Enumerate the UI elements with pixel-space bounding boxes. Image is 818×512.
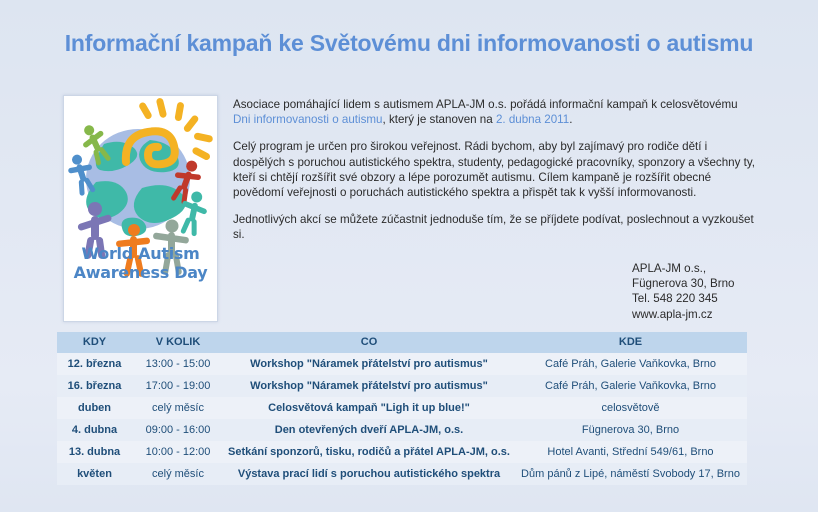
- table-row: dubencelý měsícCelosvětová kampaň "Ligh …: [57, 397, 747, 419]
- contact-phone: Tel. 548 220 345: [632, 291, 734, 306]
- logo-caption: World Autism Awareness Day: [64, 244, 217, 282]
- cell-kdy: 13. dubna: [57, 441, 132, 463]
- logo-artwork: [64, 96, 217, 321]
- page-title: Informační kampaň ke Světovému dni infor…: [0, 30, 818, 57]
- cell-co: Den otevřených dveří APLA-JM, o.s.: [224, 419, 514, 441]
- column-header-kde: KDE: [514, 332, 747, 353]
- schedule-table-body: 12. března13:00 - 15:00Workshop "Náramek…: [57, 353, 747, 485]
- table-header-row: KDY V KOLIK CO KDE: [57, 332, 747, 353]
- cell-co: Výstava prací lidí s poruchou autistické…: [224, 463, 514, 485]
- cell-kde: Fügnerova 30, Brno: [514, 419, 747, 441]
- cell-co: Workshop "Náramek přátelství pro autismu…: [224, 375, 514, 397]
- column-header-kdy: KDY: [57, 332, 132, 353]
- cell-kolik: 09:00 - 16:00: [132, 419, 224, 441]
- contact-org: APLA-JM o.s.,: [632, 261, 734, 276]
- intro-text: Asociace pomáhající lidem s autismem APL…: [233, 97, 758, 255]
- table-row: 12. března13:00 - 15:00Workshop "Náramek…: [57, 353, 747, 375]
- cell-kolik: celý měsíc: [132, 463, 224, 485]
- column-header-kolik: V KOLIK: [132, 332, 224, 353]
- cell-kdy: 4. dubna: [57, 419, 132, 441]
- column-header-co: CO: [224, 332, 514, 353]
- cell-kdy: 16. března: [57, 375, 132, 397]
- cell-kolik: celý měsíc: [132, 397, 224, 419]
- p1-highlight-date: 2. dubna 2011: [496, 113, 569, 126]
- cell-kdy: duben: [57, 397, 132, 419]
- table-row: 4. dubna09:00 - 16:00Den otevřených dveř…: [57, 419, 747, 441]
- logo-caption-line2: Awareness Day: [64, 263, 217, 282]
- cell-kde: Dům pánů z Lipé, náměstí Svobody 17, Brn…: [514, 463, 747, 485]
- table-row: 13. dubna10:00 - 12:00Setkání sponzorů, …: [57, 441, 747, 463]
- schedule-table: KDY V KOLIK CO KDE 12. března13:00 - 15:…: [57, 332, 747, 485]
- paragraph-3: Jednotlivých akcí se můžete zúčastnit je…: [233, 212, 758, 242]
- table-row: květencelý měsícVýstava prací lidí s por…: [57, 463, 747, 485]
- schedule-table-head: KDY V KOLIK CO KDE: [57, 332, 747, 353]
- p1-highlight-day: Dni informovanosti o autismu: [233, 113, 383, 126]
- p1-part-a: Asociace pomáhající lidem s autismem APL…: [233, 98, 738, 111]
- cell-kde: celosvětově: [514, 397, 747, 419]
- contact-web[interactable]: www.apla-jm.cz: [632, 307, 734, 322]
- cell-kolik: 10:00 - 12:00: [132, 441, 224, 463]
- cell-kolik: 17:00 - 19:00: [132, 375, 224, 397]
- poster-page: Informační kampaň ke Světovému dni infor…: [0, 0, 818, 512]
- cell-co: Setkání sponzorů, tisku, rodičů a přátel…: [224, 441, 514, 463]
- contact-block: APLA-JM o.s., Fügnerova 30, Brno Tel. 54…: [632, 261, 734, 322]
- paragraph-1: Asociace pomáhající lidem s autismem APL…: [233, 97, 758, 127]
- world-autism-awareness-day-logo: World Autism Awareness Day: [63, 95, 218, 322]
- table-row: 16. března17:00 - 19:00Workshop "Náramek…: [57, 375, 747, 397]
- cell-co: Celosvětová kampaň "Ligh it up blue!": [224, 397, 514, 419]
- cell-kdy: 12. března: [57, 353, 132, 375]
- p1-part-b: , který je stanoven na: [383, 113, 496, 126]
- logo-caption-line1: World Autism: [64, 244, 217, 263]
- cell-kde: Café Práh, Galerie Vaňkovka, Brno: [514, 353, 747, 375]
- p1-part-c: .: [569, 113, 572, 126]
- cell-kolik: 13:00 - 15:00: [132, 353, 224, 375]
- cell-kde: Café Práh, Galerie Vaňkovka, Brno: [514, 375, 747, 397]
- cell-kdy: květen: [57, 463, 132, 485]
- paragraph-2: Celý program je určen pro širokou veřejn…: [233, 139, 758, 200]
- contact-address: Fügnerova 30, Brno: [632, 276, 734, 291]
- cell-kde: Hotel Avanti, Střední 549/61, Brno: [514, 441, 747, 463]
- cell-co: Workshop "Náramek přátelství pro autismu…: [224, 353, 514, 375]
